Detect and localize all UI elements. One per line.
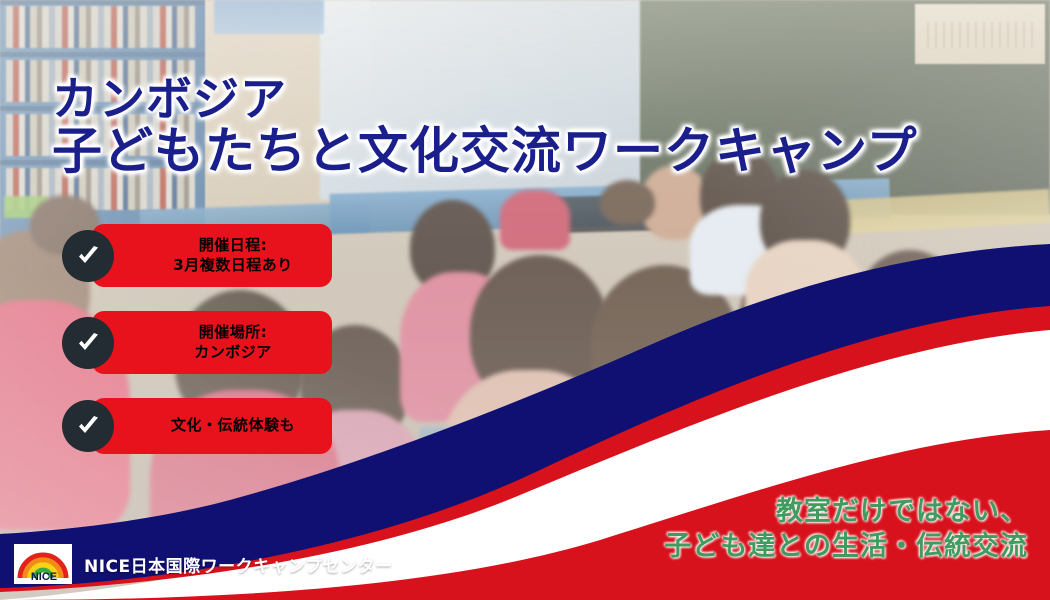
check-icon	[62, 400, 114, 452]
badge-plate: 開催日程: 3月複数日程あり	[92, 224, 332, 287]
badge-label-secondary: 3月複数日程あり	[150, 256, 316, 276]
badge-label-primary: 文化・伝統体験も	[150, 416, 316, 436]
feature-badge-culture: 文化・伝統体験も	[62, 398, 332, 454]
feature-badge-list: 開催日程: 3月複数日程あり 開催場所: カンボジア 文化・伝統	[62, 224, 332, 478]
headline-line-1: カンボジア	[52, 76, 1032, 122]
badge-label-primary: 開催場所:	[150, 323, 316, 343]
logo-wordmark: NICE	[31, 571, 57, 583]
poster-canvas: カンボジア 子どもたちと文化交流ワークキャンプ 開催日程: 3月複数日程あり 開…	[0, 0, 1050, 600]
badge-label-secondary: カンボジア	[150, 343, 316, 363]
check-icon	[62, 317, 114, 369]
badge-plate: 開催場所: カンボジア	[92, 311, 332, 374]
badge-label-primary: 開催日程:	[150, 236, 316, 256]
nice-rainbow-logo-icon: NICE	[14, 544, 72, 584]
poster-tagline: 教室だけではない、 子ども達との生活・伝統交流	[664, 494, 1028, 564]
footer-brand: NICE NICE日本国際ワークキャンプセンター	[14, 544, 393, 584]
organization-name: NICE日本国際ワークキャンプセンター	[84, 552, 393, 577]
badge-plate: 文化・伝統体験も	[92, 398, 332, 454]
poster-headline: カンボジア 子どもたちと文化交流ワークキャンプ	[52, 76, 1032, 176]
tagline-line-2: 子ども達との生活・伝統交流	[664, 529, 1028, 564]
feature-badge-location: 開催場所: カンボジア	[62, 311, 332, 374]
feature-badge-dates: 開催日程: 3月複数日程あり	[62, 224, 332, 287]
headline-line-2: 子どもたちと文化交流ワークキャンプ	[52, 126, 1032, 176]
check-icon	[62, 230, 114, 282]
tagline-line-1: 教室だけではない、	[664, 494, 1028, 529]
